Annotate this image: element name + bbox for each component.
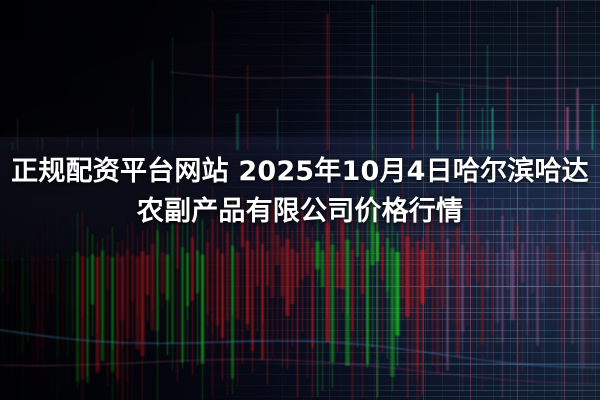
banner-image: 正规配资平台网站 2025年10月4日哈尔滨哈达 农副产品有限公司价格行情 <box>0 0 600 400</box>
page-title-line-2: 农副产品有限公司价格行情 <box>0 192 600 232</box>
page-title: 正规配资平台网站 2025年10月4日哈尔滨哈达 农副产品有限公司价格行情 <box>0 152 600 232</box>
page-title-line-1: 正规配资平台网站 2025年10月4日哈尔滨哈达 <box>0 152 600 192</box>
